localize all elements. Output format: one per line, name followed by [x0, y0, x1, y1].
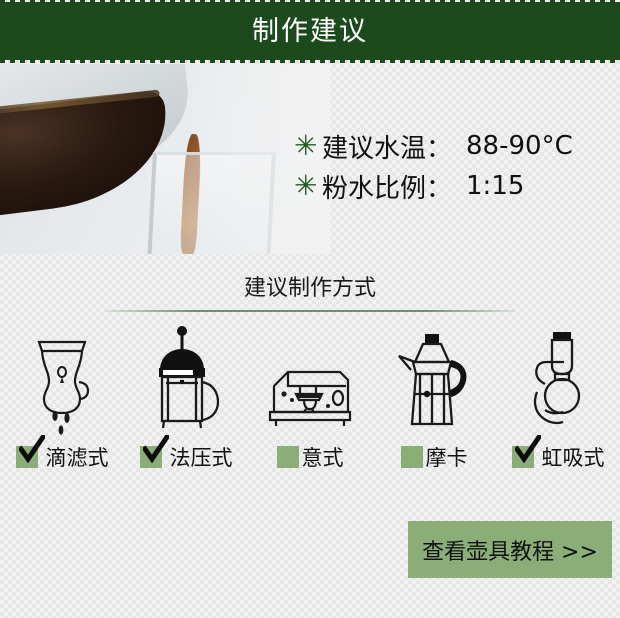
method-name-siphon: 虹吸式 [542, 442, 605, 472]
spec-row-coffee-water-ratio: ✳ 粉水比例： 1:15 [294, 166, 573, 206]
method-item-drip[interactable]: 滴滤式 [0, 326, 124, 472]
espresso-machine-icon [260, 326, 360, 436]
spec-label-coffee-water-ratio: 粉水比例： [322, 168, 452, 205]
header-bar: 制作建议 [0, 2, 620, 60]
method-label-row-drip: 滴滤式 [16, 442, 109, 472]
method-item-espresso[interactable]: 意式 [248, 326, 372, 472]
method-label-row-french-press: 法压式 [140, 442, 233, 472]
method-name-moka: 摩卡 [426, 442, 468, 472]
siphon-brewer-icon [523, 326, 593, 436]
method-item-moka[interactable]: 摩卡 [372, 326, 496, 472]
checkbox-siphon[interactable] [512, 446, 534, 468]
section-divider-line [105, 310, 515, 312]
pour-over-dripper-icon [23, 326, 101, 436]
page-title: 制作建议 [252, 18, 368, 45]
method-item-french-press[interactable]: 法压式 [124, 326, 248, 472]
method-name-espresso: 意式 [302, 442, 344, 472]
checkbox-drip[interactable] [16, 446, 38, 468]
method-name-french-press: 法压式 [170, 442, 233, 472]
asterisk-bullet-icon: ✳ [294, 173, 316, 199]
checkbox-espresso[interactable] [277, 446, 299, 468]
checkbox-french-press[interactable] [140, 446, 162, 468]
moka-pot-icon [391, 326, 477, 436]
spec-value-water-temperature: 88-90°C [466, 131, 573, 161]
method-name-drip: 滴滤式 [46, 442, 109, 472]
brew-specs-list: ✳ 建议水温： 88-90°C ✳ 粉水比例： 1:15 [294, 126, 573, 206]
view-equipment-tutorial-button[interactable]: 查看壶具教程 >> [408, 521, 612, 578]
method-item-siphon[interactable]: 虹吸式 [496, 326, 620, 472]
header-bottom-dotted-border [0, 60, 620, 63]
asterisk-bullet-icon: ✳ [294, 133, 316, 159]
method-label-row-moka: 摩卡 [401, 442, 468, 472]
method-label-row-siphon: 虹吸式 [512, 442, 605, 472]
coffee-liquid-shape [0, 89, 176, 219]
coffee-surface-rim [0, 90, 160, 118]
french-press-icon [146, 326, 226, 436]
receiving-glass-shape [147, 152, 276, 254]
spec-label-water-temperature: 建议水温： [322, 128, 452, 165]
coffee-pouring-photo [0, 64, 330, 254]
spec-value-coffee-water-ratio: 1:15 [466, 171, 524, 201]
spec-row-water-temperature: ✳ 建议水温： 88-90°C [294, 126, 573, 166]
brew-methods-row: 滴滤式 [0, 326, 620, 472]
coffee-pour-stream [180, 134, 202, 254]
carafe-glass-shape [0, 64, 196, 190]
section-heading-brew-methods: 建议制作方式 [0, 270, 620, 302]
checkbox-moka[interactable] [401, 446, 423, 468]
method-label-row-espresso: 意式 [277, 442, 344, 472]
view-equipment-tutorial-label: 查看壶具教程 >> [422, 534, 598, 566]
